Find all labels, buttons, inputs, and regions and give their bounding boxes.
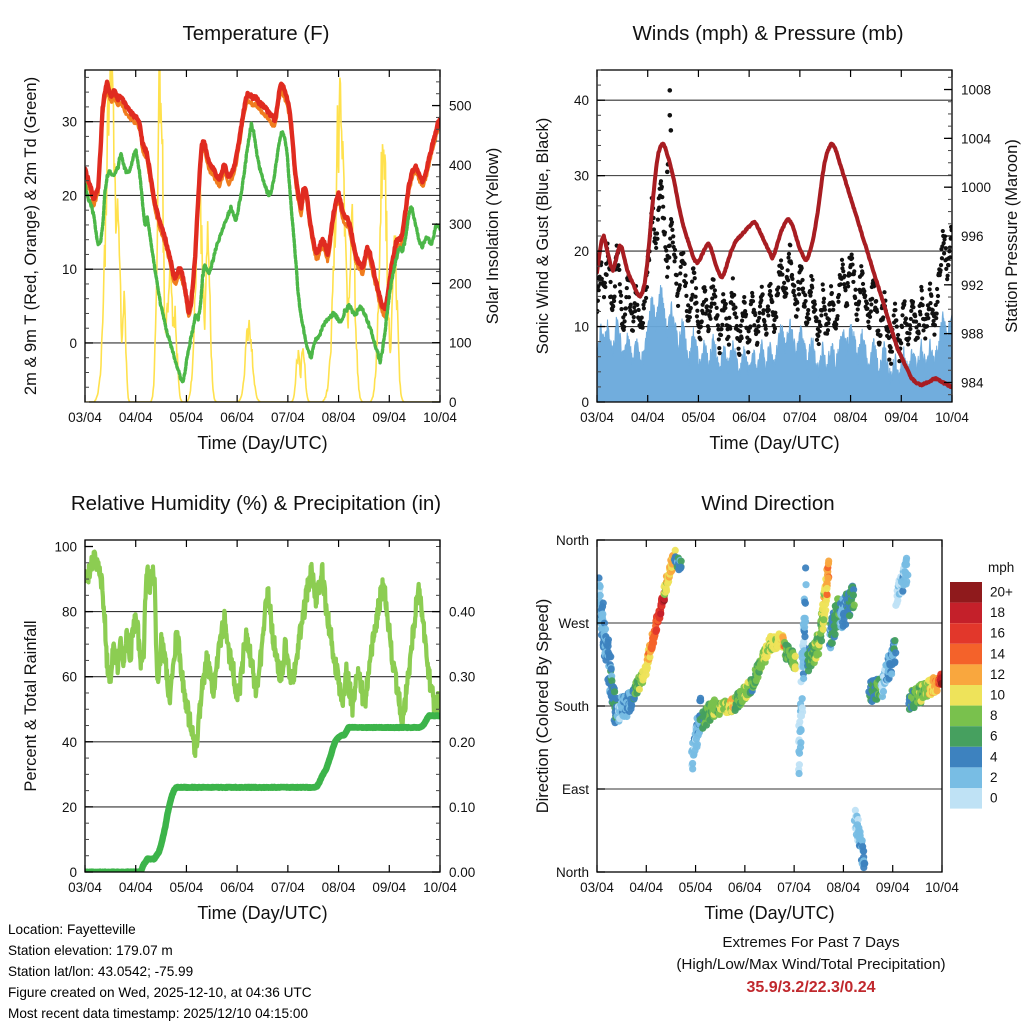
- svg-text:10: 10: [990, 688, 1005, 703]
- svg-text:30: 30: [62, 115, 77, 130]
- temperature-plot: 0102030010020030040050003/0404/0405/0406…: [0, 0, 512, 470]
- svg-text:0.20: 0.20: [449, 735, 475, 750]
- svg-text:09/04: 09/04: [372, 880, 406, 895]
- svg-text:0: 0: [449, 395, 457, 410]
- svg-text:988: 988: [961, 327, 984, 342]
- svg-text:East: East: [562, 782, 589, 797]
- svg-text:500: 500: [449, 99, 472, 114]
- footer-elevation: Station elevation: 179.07 m: [8, 943, 173, 958]
- humidity-plot: 0204060801000.000.100.200.300.4003/0404/…: [0, 470, 512, 940]
- svg-text:03/04: 03/04: [580, 880, 614, 895]
- svg-text:08/04: 08/04: [834, 410, 868, 425]
- footer-latlon: Station lat/lon: 43.0542; -75.99: [8, 964, 193, 979]
- svg-text:09/04: 09/04: [372, 410, 406, 425]
- svg-text:03/04: 03/04: [580, 410, 614, 425]
- svg-text:20: 20: [62, 800, 77, 815]
- svg-text:8: 8: [990, 708, 998, 723]
- footer-location: Location: Fayetteville: [8, 922, 136, 937]
- panel-humidity: Relative Humidity (%) & Precipitation (i…: [0, 470, 512, 940]
- svg-text:40: 40: [62, 735, 77, 750]
- svg-text:South: South: [554, 699, 589, 714]
- svg-text:18: 18: [990, 605, 1005, 620]
- winddir-plot: NorthWestSouthEastNorth03/0404/0405/0406…: [512, 470, 1024, 940]
- svg-text:North: North: [556, 533, 589, 548]
- svg-text:Time (Day/UTC): Time (Day/UTC): [197, 433, 327, 453]
- svg-text:984: 984: [961, 375, 984, 390]
- svg-text:80: 80: [62, 605, 77, 620]
- svg-text:mph: mph: [988, 560, 1014, 575]
- footer-recent-timestamp: Most recent data timestamp: 2025/12/10 0…: [8, 1006, 308, 1021]
- svg-text:North: North: [556, 865, 589, 880]
- svg-text:Direction (Colored By Speed): Direction (Colored By Speed): [534, 599, 552, 814]
- svg-text:1004: 1004: [961, 131, 992, 146]
- svg-text:07/04: 07/04: [271, 880, 305, 895]
- svg-text:0.00: 0.00: [449, 865, 475, 880]
- svg-text:06/04: 06/04: [728, 880, 762, 895]
- svg-text:40: 40: [574, 93, 589, 108]
- svg-text:0.30: 0.30: [449, 670, 475, 685]
- svg-text:100: 100: [54, 540, 77, 555]
- panel-winddir: Wind Direction NorthWestSouthEastNorth03…: [512, 470, 1024, 940]
- temperature-title: Temperature (F): [0, 22, 512, 46]
- svg-text:0: 0: [581, 395, 589, 410]
- extremes-subtitle: (High/Low/Max Wind/Total Precipitation): [598, 956, 1024, 973]
- svg-text:2: 2: [990, 770, 998, 785]
- svg-text:04/04: 04/04: [631, 410, 665, 425]
- svg-text:0: 0: [990, 791, 998, 806]
- svg-text:Sonic Wind & Gust (Blue, Black: Sonic Wind & Gust (Blue, Black): [534, 118, 552, 355]
- svg-text:20: 20: [574, 244, 589, 259]
- extremes-title: Extremes For Past 7 Days: [598, 934, 1024, 951]
- svg-text:10/04: 10/04: [925, 880, 959, 895]
- svg-text:09/04: 09/04: [876, 880, 910, 895]
- winddir-title: Wind Direction: [512, 492, 1024, 516]
- svg-text:05/04: 05/04: [170, 410, 204, 425]
- svg-text:0: 0: [69, 336, 77, 351]
- svg-text:2m & 9m T (Red, Orange) & 2m T: 2m & 9m T (Red, Orange) & 2m Td (Green): [22, 77, 40, 395]
- panel-temperature: Temperature (F) 010203001002003004005000…: [0, 0, 512, 470]
- svg-text:0: 0: [69, 865, 77, 880]
- svg-text:06/04: 06/04: [220, 410, 254, 425]
- svg-text:10/04: 10/04: [423, 880, 457, 895]
- svg-text:1008: 1008: [961, 83, 991, 98]
- svg-text:04/04: 04/04: [119, 410, 153, 425]
- svg-text:08/04: 08/04: [322, 410, 356, 425]
- svg-text:Percent & Total Rainfall: Percent & Total Rainfall: [22, 620, 40, 791]
- svg-text:992: 992: [961, 278, 984, 293]
- svg-text:4: 4: [990, 749, 998, 764]
- svg-text:West: West: [558, 616, 589, 631]
- svg-text:04/04: 04/04: [119, 880, 153, 895]
- svg-text:05/04: 05/04: [682, 410, 716, 425]
- svg-text:60: 60: [62, 670, 77, 685]
- svg-text:14: 14: [990, 646, 1006, 661]
- svg-text:200: 200: [449, 276, 472, 291]
- svg-text:05/04: 05/04: [679, 880, 713, 895]
- svg-text:6: 6: [990, 729, 998, 744]
- svg-text:0.10: 0.10: [449, 800, 475, 815]
- svg-text:08/04: 08/04: [827, 880, 861, 895]
- panel-winds: Winds (mph) & Pressure (mb) 010203040984…: [512, 0, 1024, 470]
- extremes-values: 35.9/3.2/22.3/0.24: [598, 979, 1024, 997]
- svg-text:03/04: 03/04: [68, 880, 102, 895]
- svg-text:Time (Day/UTC): Time (Day/UTC): [197, 903, 327, 923]
- svg-text:05/04: 05/04: [170, 880, 204, 895]
- svg-text:12: 12: [990, 667, 1005, 682]
- humidity-title: Relative Humidity (%) & Precipitation (i…: [0, 492, 512, 516]
- footer-created: Figure created on Wed, 2025-12-10, at 04…: [8, 985, 312, 1000]
- winds-title: Winds (mph) & Pressure (mb): [512, 22, 1024, 46]
- svg-text:30: 30: [574, 169, 589, 184]
- svg-text:100: 100: [449, 336, 472, 351]
- svg-text:10: 10: [574, 320, 589, 335]
- svg-text:20: 20: [62, 188, 77, 203]
- svg-text:996: 996: [961, 229, 984, 244]
- svg-text:09/04: 09/04: [884, 410, 918, 425]
- svg-text:Solar Insolation (Yellow): Solar Insolation (Yellow): [484, 148, 502, 324]
- svg-text:20+: 20+: [990, 585, 1013, 600]
- svg-text:06/04: 06/04: [220, 880, 254, 895]
- winds-plot: 01020304098498899299610001004100803/0404…: [512, 0, 1024, 470]
- svg-text:06/04: 06/04: [732, 410, 766, 425]
- svg-text:10: 10: [62, 262, 77, 277]
- svg-text:10/04: 10/04: [423, 410, 457, 425]
- svg-text:Station Pressure (Maroon): Station Pressure (Maroon): [1003, 139, 1021, 333]
- svg-text:04/04: 04/04: [629, 880, 663, 895]
- svg-text:400: 400: [449, 158, 472, 173]
- svg-text:07/04: 07/04: [777, 880, 811, 895]
- svg-text:Time (Day/UTC): Time (Day/UTC): [704, 903, 834, 923]
- svg-text:300: 300: [449, 217, 472, 232]
- svg-text:1000: 1000: [961, 180, 991, 195]
- svg-text:08/04: 08/04: [322, 880, 356, 895]
- svg-text:16: 16: [990, 626, 1005, 641]
- svg-text:07/04: 07/04: [271, 410, 305, 425]
- svg-text:03/04: 03/04: [68, 410, 102, 425]
- svg-text:10/04: 10/04: [935, 410, 969, 425]
- weather-dashboard: Temperature (F) 010203001002003004005000…: [0, 0, 1024, 1024]
- svg-text:Time (Day/UTC): Time (Day/UTC): [709, 433, 839, 453]
- svg-text:0.40: 0.40: [449, 605, 475, 620]
- svg-text:07/04: 07/04: [783, 410, 817, 425]
